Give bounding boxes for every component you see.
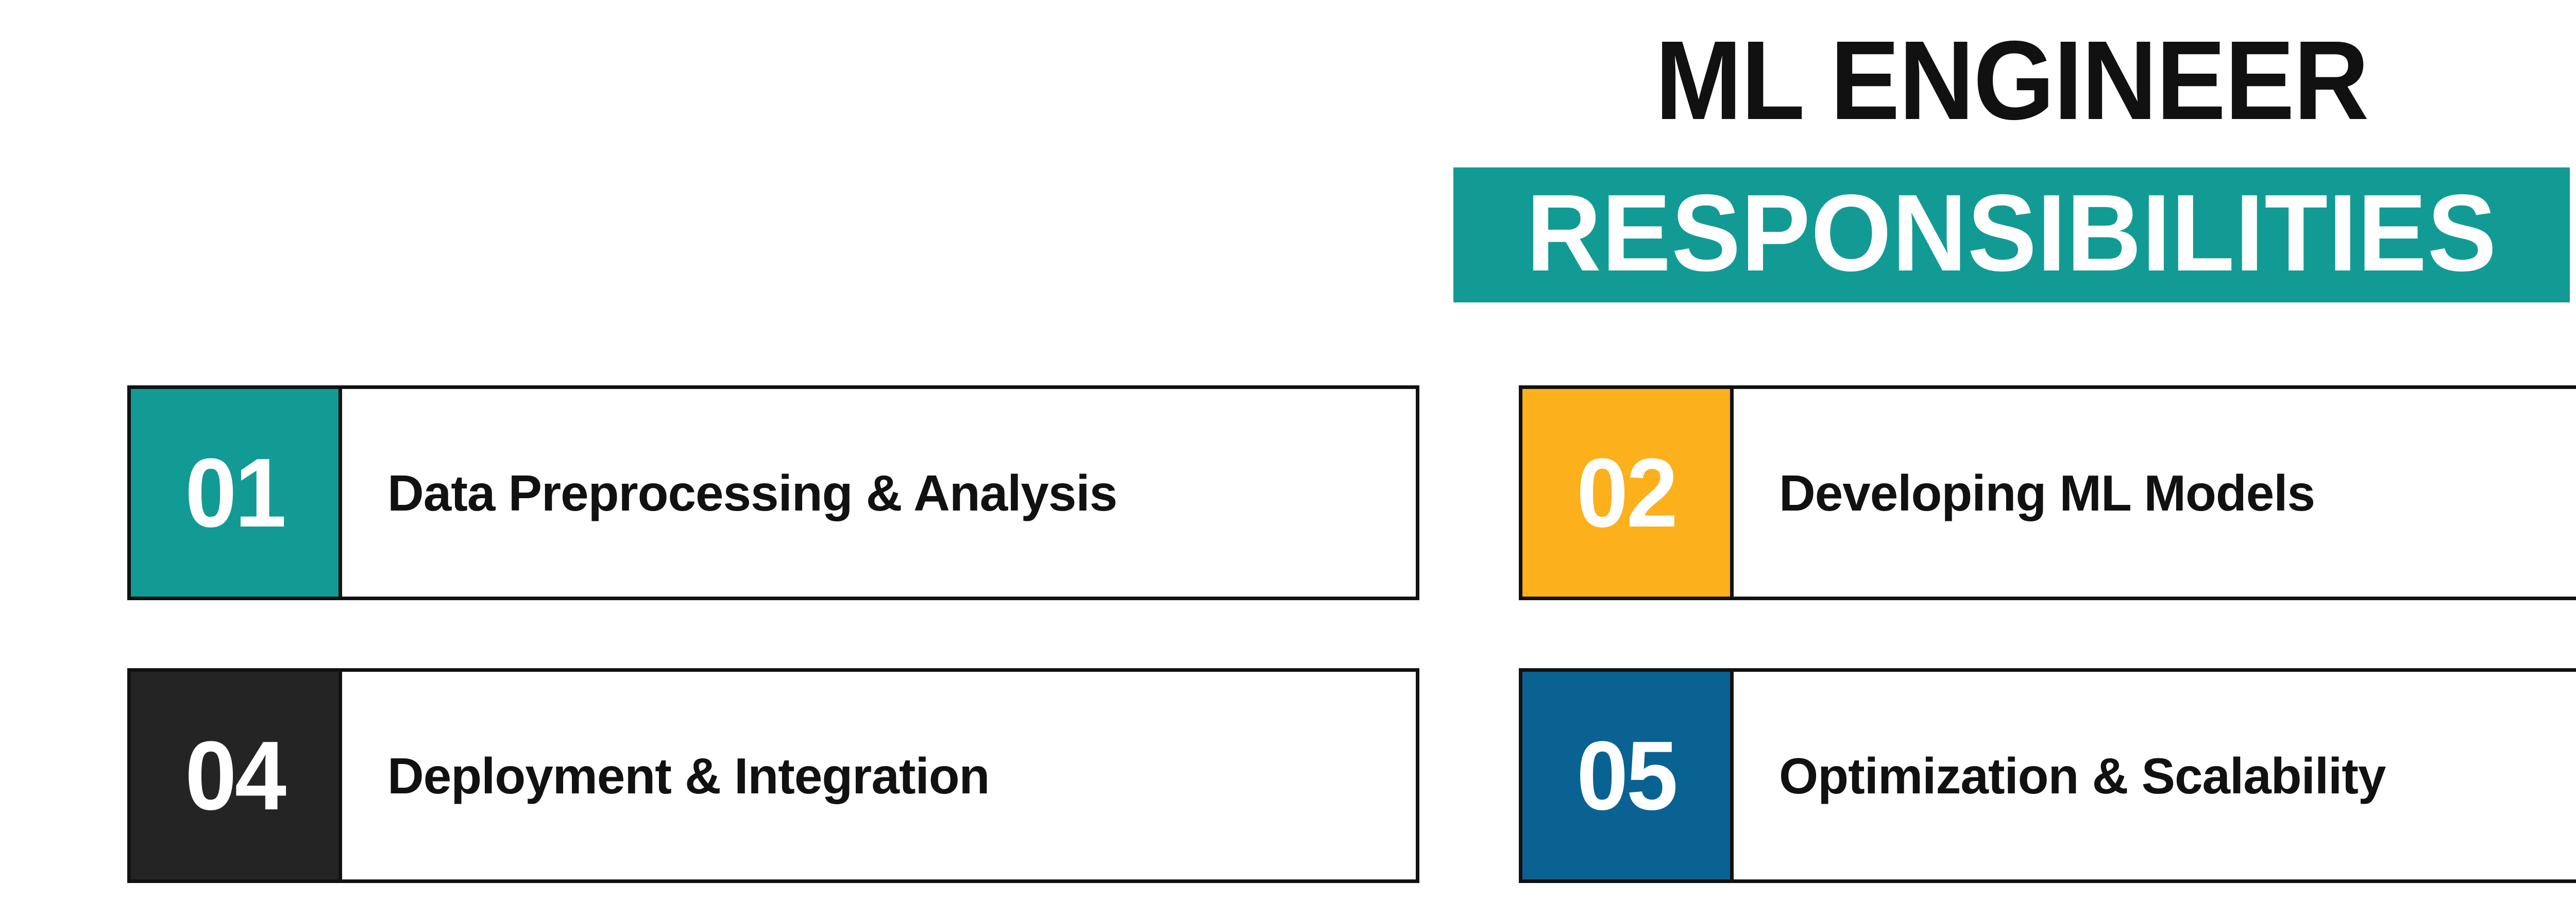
card-number-box: 04 (131, 672, 342, 879)
card-number-box: 01 (131, 389, 342, 597)
card-number: 04 (185, 727, 284, 825)
responsibility-card[interactable]: 05 Optimization & Scalability (1519, 668, 2576, 883)
responsibility-card[interactable]: 02 Developing ML Models (1519, 385, 2576, 600)
card-number: 01 (185, 444, 284, 542)
poster-header: ML ENGINEER RESPONSIBILITIES (0, 0, 2576, 319)
page-subtitle: RESPONSIBILITIES (1526, 181, 2497, 285)
card-label: Deployment & Integration (387, 746, 989, 806)
card-body: Optimization & Scalability (1734, 672, 2576, 879)
responsibility-card[interactable]: 01 Data Preprocessing & Analysis (127, 385, 1419, 600)
card-label: Optimization & Scalability (1779, 746, 2385, 806)
card-number-box: 02 (1522, 389, 1734, 597)
card-body: Data Preprocessing & Analysis (342, 389, 1416, 597)
page-title: ML ENGINEER (141, 25, 2576, 137)
card-number: 02 (1577, 444, 1676, 542)
infographic-poster: ML ENGINEER RESPONSIBILITIES 01 Data Pre… (0, 0, 2576, 916)
card-body: Deployment & Integration (342, 672, 1416, 879)
card-body: Developing ML Models (1734, 389, 2576, 597)
card-label: Developing ML Models (1779, 463, 2315, 523)
card-label: Data Preprocessing & Analysis (387, 463, 1117, 523)
subtitle-band: RESPONSIBILITIES (1453, 167, 2570, 302)
card-number: 05 (1577, 727, 1676, 825)
card-number-box: 05 (1522, 672, 1734, 879)
responsibility-card-grid: 01 Data Preprocessing & Analysis 02 Deve… (127, 385, 2576, 883)
subtitle-band-wrapper: RESPONSIBILITIES (0, 167, 2576, 302)
responsibility-card[interactable]: 04 Deployment & Integration (127, 668, 1419, 883)
